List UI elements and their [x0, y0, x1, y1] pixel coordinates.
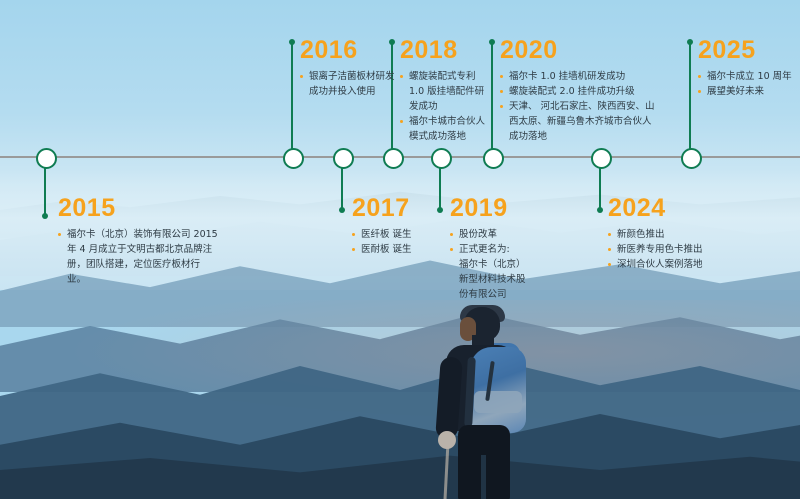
bullet-list-2016: 银离子洁菌板材研发成功并投入使用 [300, 69, 395, 99]
timeline-node-2025[interactable] [681, 148, 702, 169]
stem-endpoint-dot [289, 39, 295, 45]
timeline-node-2016[interactable] [283, 148, 304, 169]
bullet-item: 福尔卡城市合伙人模式成功落地 [400, 114, 492, 144]
bullet-list-2015: 福尔卡（北京）装饰有限公司 2015 年 4 月成立于文明古都北京品牌注册，团队… [58, 227, 218, 287]
stem-endpoint-dot [687, 39, 693, 45]
bullet-item: 医纤板 诞生 [352, 227, 442, 242]
bullet-item: 深圳合伙人案例落地 [608, 257, 728, 272]
year-label-2019: 2019 [450, 196, 528, 221]
hiker-figure [420, 305, 560, 499]
bullet-item: 新颜色推出 [608, 227, 728, 242]
year-label-2016: 2016 [300, 38, 395, 63]
blue-backpack [470, 347, 526, 433]
timeline-entry-2017: 2017 医纤板 诞生 医耐板 诞生 [352, 196, 442, 257]
year-label-2024: 2024 [608, 196, 728, 221]
bullet-item: 股份改革 [450, 227, 528, 242]
timeline-entry-2015: 2015 福尔卡（北京）装饰有限公司 2015 年 4 月成立于文明古都北京品牌… [58, 196, 218, 287]
bullet-item: 新医养专用色卡推出 [608, 242, 728, 257]
timeline-entry-2016: 2016 银离子洁菌板材研发成功并投入使用 [300, 38, 395, 99]
bullet-list-2020: 福尔卡 1.0 挂墙机研发成功 螺旋装配式 2.0 挂件成功升级 天津、 河北石… [500, 69, 660, 144]
timeline-stem-2025 [689, 42, 691, 154]
bullet-item: 福尔卡成立 10 周年 [698, 69, 798, 84]
backpack-panel [474, 391, 522, 413]
bullet-list-2017: 医纤板 诞生 医耐板 诞生 [352, 227, 442, 257]
stem-endpoint-dot [597, 207, 603, 213]
timeline-node-2020[interactable] [483, 148, 504, 169]
bullet-item: 银离子洁菌板材研发成功并投入使用 [300, 69, 395, 99]
timeline-entry-2018: 2018 螺旋装配式专利 1.0 版挂墙配件研发成功 福尔卡城市合伙人模式成功落… [400, 38, 492, 144]
timeline-stem-2016 [291, 42, 293, 154]
bullet-item: 福尔卡（北京）装饰有限公司 2015 年 4 月成立于文明古都北京品牌注册，团队… [58, 227, 218, 287]
timeline-entry-2019: 2019 股份改革 正式更名为: 福尔卡（北京）新型材料技术股份有限公司 [450, 196, 528, 302]
entry-detail-2019: 福尔卡（北京）新型材料技术股份有限公司 [450, 257, 528, 302]
bullet-item: 天津、 河北石家庄、陕西西安、山西太原、新疆乌鲁木齐城市合伙人成功落地 [500, 99, 660, 144]
year-label-2025: 2025 [698, 38, 798, 63]
bullet-item: 正式更名为: [450, 242, 528, 257]
bullet-list-2018: 螺旋装配式专利 1.0 版挂墙配件研发成功 福尔卡城市合伙人模式成功落地 [400, 69, 492, 144]
timeline-infographic: 2015 福尔卡（北京）装饰有限公司 2015 年 4 月成立于文明古都北京品牌… [0, 0, 800, 499]
bullet-list-2019: 股份改革 正式更名为: [450, 227, 528, 257]
year-label-2020: 2020 [500, 38, 660, 63]
timeline-node-2024[interactable] [591, 148, 612, 169]
bullet-list-2024: 新颜色推出 新医养专用色卡推出 深圳合伙人案例落地 [608, 227, 728, 272]
timeline-node-2015[interactable] [36, 148, 57, 169]
bullet-item: 医耐板 诞生 [352, 242, 442, 257]
year-label-2017: 2017 [352, 196, 442, 221]
timeline-entry-2025: 2025 福尔卡成立 10 周年 展望美好未来 [698, 38, 798, 99]
hiker-leg-gap [481, 455, 486, 499]
bullet-item: 螺旋装配式 2.0 挂件成功升级 [500, 84, 660, 99]
stem-endpoint-dot [42, 213, 48, 219]
stem-endpoint-dot [339, 207, 345, 213]
timeline-node-2018[interactable] [383, 148, 404, 169]
bullet-list-2025: 福尔卡成立 10 周年 展望美好未来 [698, 69, 798, 99]
bullet-item: 螺旋装配式专利 1.0 版挂墙配件研发成功 [400, 69, 492, 114]
timeline-entry-2024: 2024 新颜色推出 新医养专用色卡推出 深圳合伙人案例落地 [608, 196, 728, 272]
hiker-hand [438, 431, 456, 449]
year-label-2015: 2015 [58, 196, 218, 221]
trekking-pole [443, 441, 449, 499]
bullet-item: 展望美好未来 [698, 84, 798, 99]
timeline-entry-2020: 2020 福尔卡 1.0 挂墙机研发成功 螺旋装配式 2.0 挂件成功升级 天津… [500, 38, 660, 144]
timeline-node-2017[interactable] [333, 148, 354, 169]
bullet-item: 福尔卡 1.0 挂墙机研发成功 [500, 69, 660, 84]
timeline-node-2019[interactable] [431, 148, 452, 169]
year-label-2018: 2018 [400, 38, 492, 63]
